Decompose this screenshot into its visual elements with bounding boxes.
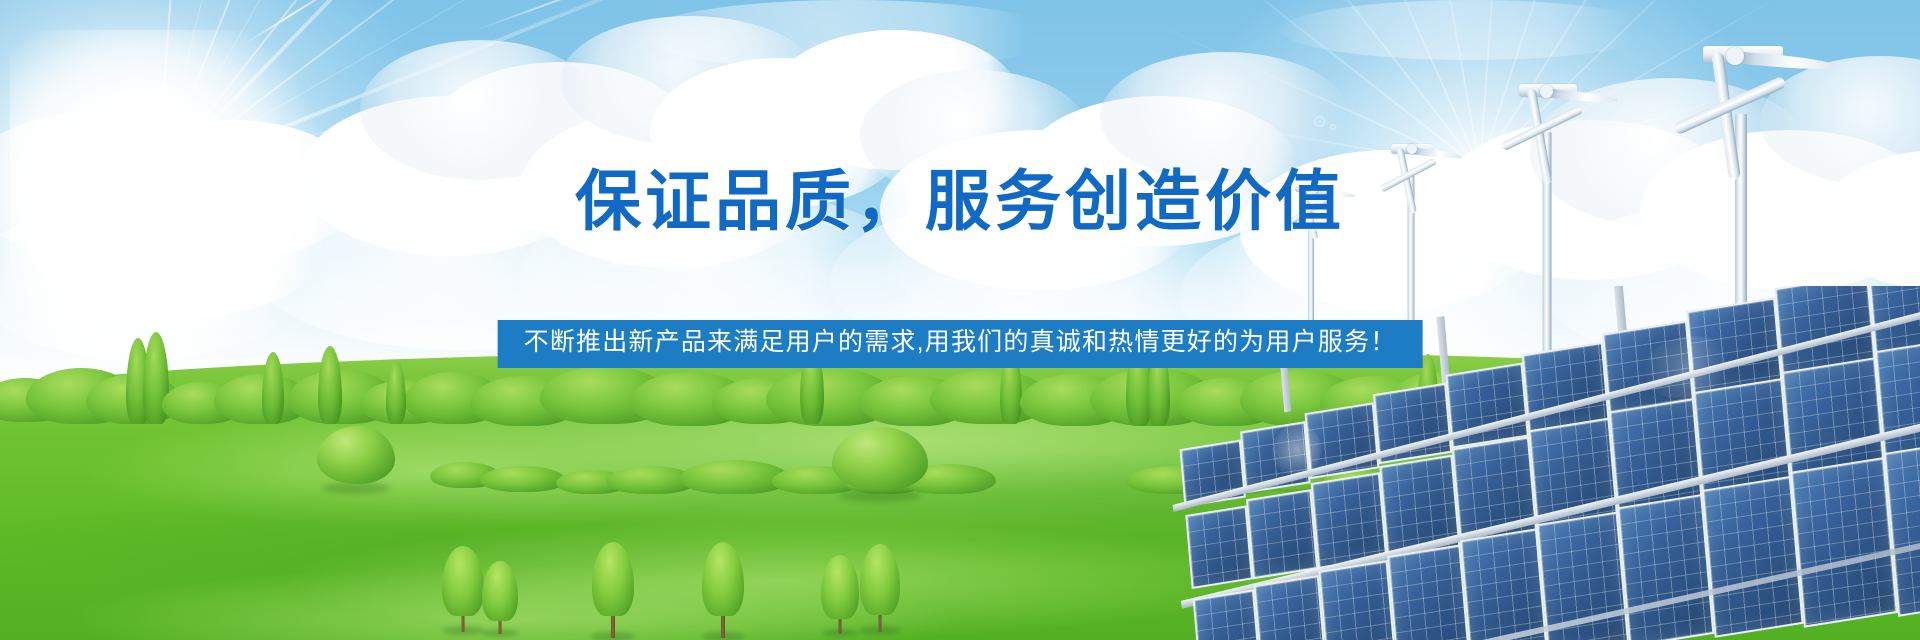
- sapling: [590, 542, 636, 638]
- solar-panel: [1460, 528, 1548, 640]
- round-tree: [830, 422, 930, 500]
- solar-panel: [1185, 505, 1253, 589]
- solar-panel: [1318, 560, 1397, 640]
- page-title: 保证品质，服务创造价值: [0, 168, 1920, 234]
- solar-panel: [1790, 457, 1897, 628]
- subtitle-text: 不断推出新产品来满足用户的需求,用我们的真诚和热情更好的为用户服务！: [524, 329, 1397, 357]
- sapling: [480, 562, 520, 634]
- solar-panel: [1193, 589, 1262, 640]
- sapling: [700, 542, 746, 638]
- subtitle-bar: 不断推出新产品来满足用户的需求,用我们的真诚和热情更好的为用户服务！: [498, 320, 1423, 368]
- round-tree: [316, 422, 396, 492]
- solar-panel: [1253, 575, 1327, 640]
- sapling: [858, 544, 902, 632]
- solar-panel: [1387, 544, 1470, 640]
- solar-panel: [1702, 476, 1804, 638]
- solar-panel: [1246, 489, 1318, 579]
- sapling: [820, 556, 860, 634]
- solar-panel: [1617, 494, 1714, 640]
- hero-banner: 保证品质，服务创造价值 不断推出新产品来满足用户的需求,用我们的真诚和热情更好的…: [0, 0, 1920, 640]
